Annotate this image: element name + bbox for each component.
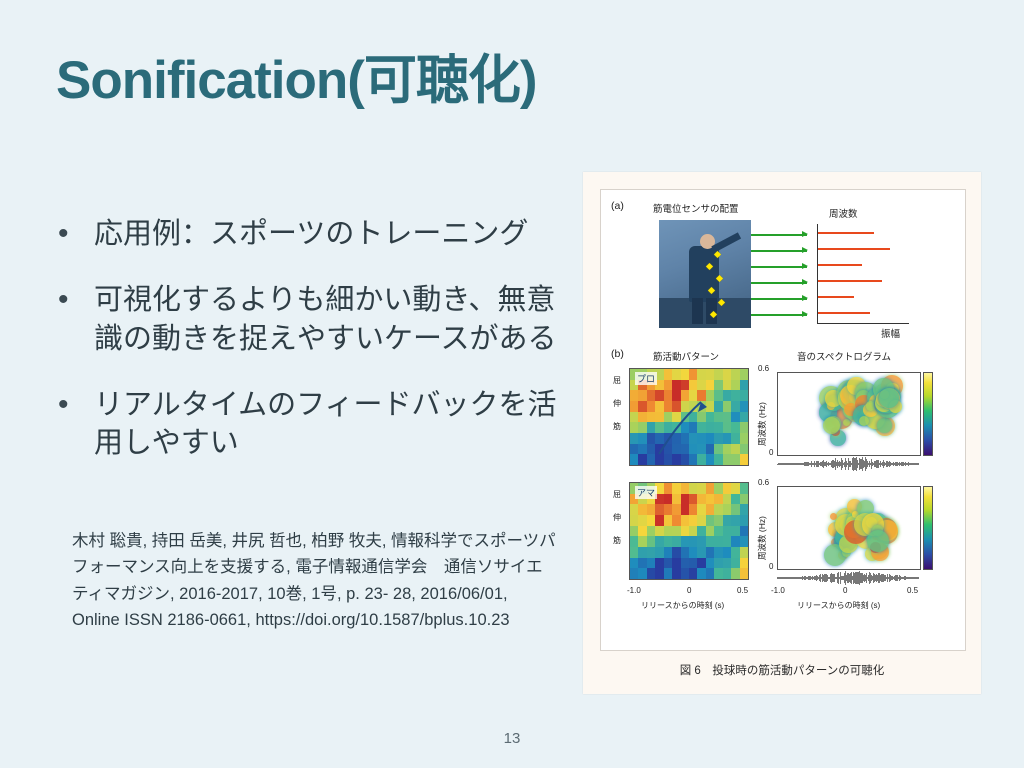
spectrum-line xyxy=(818,264,862,266)
colorbar-pro xyxy=(923,372,933,456)
spec-ama-ymax: 0.6 xyxy=(758,478,769,487)
spec-pro-ylabel: 周波数 (Hz) xyxy=(756,402,768,446)
spectrogram-ama xyxy=(777,486,921,570)
panel-a-heading: 筋電位センサの配置 xyxy=(653,201,739,215)
bullet-marker-icon: • xyxy=(50,281,94,319)
panel-a-tag: (a) xyxy=(611,200,624,212)
spectrum-amplitude-label: 振幅 xyxy=(881,326,900,340)
spec-pro-ymin: 0 xyxy=(769,448,773,457)
arrow-icon xyxy=(751,282,807,284)
bullet-text: 可視化するよりも細かい動き、無意識の動きを捉えやすいケースがある xyxy=(94,281,570,358)
spg-xlabel: リリースからの時刻 (s) xyxy=(797,600,880,611)
spectrum-line xyxy=(818,232,874,234)
page-title: Sonification(可聴化) xyxy=(56,38,537,114)
spectrum-line xyxy=(818,280,882,282)
spectrum-axes xyxy=(817,224,917,324)
hm-xtick-max: 0.5 xyxy=(737,586,748,595)
list-item: • 可視化するよりも細かい動き、無意識の動きを捉えやすいケースがある xyxy=(50,281,570,358)
bullet-marker-icon: • xyxy=(50,215,94,253)
panel-b-tag: (b) xyxy=(611,348,624,360)
muscle-axis-labels-ama: 屈 伸 筋 xyxy=(609,490,621,546)
bullet-marker-icon: • xyxy=(50,386,94,424)
spg-xtick-max: 0.5 xyxy=(907,586,918,595)
signal-arrows xyxy=(751,230,817,322)
arrow-icon xyxy=(751,266,807,268)
hm-xlabel: リリースからの時刻 (s) xyxy=(641,600,724,611)
spectrum-line xyxy=(818,248,890,250)
spectrum-line xyxy=(818,312,870,314)
spec-ama-ylabel: 周波数 (Hz) xyxy=(756,516,768,560)
muscle-axis-labels-pro: 屈 伸 筋 xyxy=(609,376,621,432)
hm-xtick-min: -1.0 xyxy=(627,586,641,595)
arrow-icon xyxy=(751,298,807,300)
arrow-icon xyxy=(751,234,807,236)
heatmap-ama-label: アマ xyxy=(635,486,657,499)
spg-xtick-mid: 0 xyxy=(843,586,847,595)
list-item: • 応用例：スポーツのトレーニング xyxy=(50,215,570,253)
slide: Sonification(可聴化) • 応用例：スポーツのトレーニング • 可視… xyxy=(0,0,1024,768)
hm-xtick-mid: 0 xyxy=(687,586,691,595)
arrow-icon xyxy=(751,314,807,316)
arrow-icon xyxy=(751,250,807,252)
spg-xtick-min: -1.0 xyxy=(771,586,785,595)
spectrogram-pro xyxy=(777,372,921,456)
bullet-list: • 応用例：スポーツのトレーニング • 可視化するよりも細かい動き、無意識の動き… xyxy=(50,215,570,490)
panel-b-heading-left: 筋活動パターン xyxy=(653,349,719,363)
spectrum-frequency-label: 周波数 xyxy=(829,206,858,220)
citation-text: 木村 聡貴, 持田 岳美, 井尻 哲也, 柏野 牧夫, 情報科学でスポーツパフォ… xyxy=(72,528,557,634)
waveform-pro xyxy=(777,456,919,472)
bullet-text: 応用例：スポーツのトレーニング xyxy=(94,215,528,253)
panel-b-heading-right: 音のスペクトログラム xyxy=(797,349,891,363)
list-item: • リアルタイムのフィードバックを活用しやすい xyxy=(50,386,570,463)
figure-image: (a) 筋電位センサの配置 xyxy=(600,189,966,651)
spec-ama-ymin: 0 xyxy=(769,562,773,571)
bullet-text: リアルタイムのフィードバックを活用しやすい xyxy=(94,386,570,463)
spec-pro-ymax: 0.6 xyxy=(758,364,769,373)
spectrum-line xyxy=(818,296,854,298)
page-number: 13 xyxy=(0,730,1024,747)
trend-arrow-icon xyxy=(629,368,747,464)
athlete-photo xyxy=(659,220,751,328)
waveform-ama xyxy=(777,570,919,586)
colorbar-ama xyxy=(923,486,933,570)
figure-caption: 図 6 投球時の筋活動パターンの可聴化 xyxy=(583,662,981,678)
figure-card: (a) 筋電位センサの配置 xyxy=(583,172,981,694)
